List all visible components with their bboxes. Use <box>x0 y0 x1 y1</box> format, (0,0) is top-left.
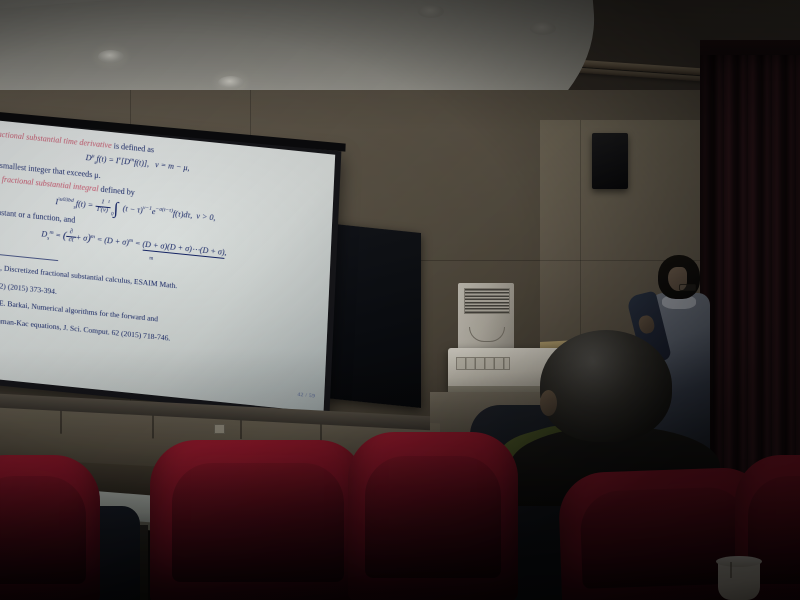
eq2-int-lower: 0 <box>111 212 114 217</box>
cup-seam <box>730 562 732 578</box>
eq2-integrand: (t − τ) <box>123 203 143 214</box>
eq2-exp1: ν−1 <box>143 205 152 212</box>
cup-rim <box>716 556 762 567</box>
eq2-tail: f(τ)dτ, <box>173 209 193 220</box>
slide-intro-post: is defined as <box>114 141 155 154</box>
eq2-exp2: −σ(t−τ) <box>155 206 173 214</box>
auditorium-seat[interactable] <box>150 440 365 600</box>
projection-screen[interactable]: The Caputo fractional substantial time d… <box>0 111 341 419</box>
integral-icon: ∫ <box>113 204 118 214</box>
slide-page-indicator: 42 / 59 <box>297 392 315 401</box>
eq1-body: f(t) = I <box>96 154 118 165</box>
eq2-denominator: Γ(ν) <box>95 206 110 214</box>
paper-cup[interactable] <box>718 560 760 600</box>
wall-dark-panel <box>325 223 421 408</box>
lectern-control-panel[interactable] <box>456 357 510 370</box>
ceiling-downlight-icon <box>530 22 556 35</box>
presentation-slide: The Caputo fractional substantial time d… <box>0 115 335 412</box>
auditorium-seat[interactable] <box>348 432 518 600</box>
screen-surface: The Caputo fractional substantial time d… <box>0 115 335 412</box>
foreground-person-head <box>540 330 672 442</box>
eq2-condition: ν > 0, <box>196 211 216 222</box>
glasses-icon <box>679 284 696 291</box>
auditorium-seat[interactable] <box>0 455 100 600</box>
eq3-pow: m <box>49 229 53 235</box>
wall-outlet-icon <box>214 424 225 434</box>
foreground-person-ear <box>540 390 557 416</box>
eq3-mid: = (D + σ) <box>97 235 130 247</box>
eq1-tail2: f(t)], <box>134 158 149 169</box>
eq3-denominator: ∂t <box>66 237 75 245</box>
eq1-condition: ν = m − μ, <box>155 160 190 172</box>
lecture-hall-photo: The Caputo fractional substantial time d… <box>0 0 800 600</box>
line3-post: defined by <box>100 185 135 197</box>
ceiling-downlight-icon <box>98 50 124 63</box>
ac-arc-detail <box>469 327 505 342</box>
eq3-fraction: ∂ ∂t <box>66 229 76 245</box>
standing-person-face <box>668 267 687 291</box>
standing-person-head <box>658 255 700 299</box>
eq2-int-upper: t <box>108 200 110 205</box>
ceiling-downlight-icon <box>218 76 244 89</box>
eq3-sigma: + σ <box>76 233 88 243</box>
eq1-lhs-sup: μ <box>92 153 95 159</box>
ac-vent-grille-icon <box>464 288 510 314</box>
ceiling-downlight-icon <box>418 5 444 18</box>
wall-speaker-icon <box>592 133 628 189</box>
